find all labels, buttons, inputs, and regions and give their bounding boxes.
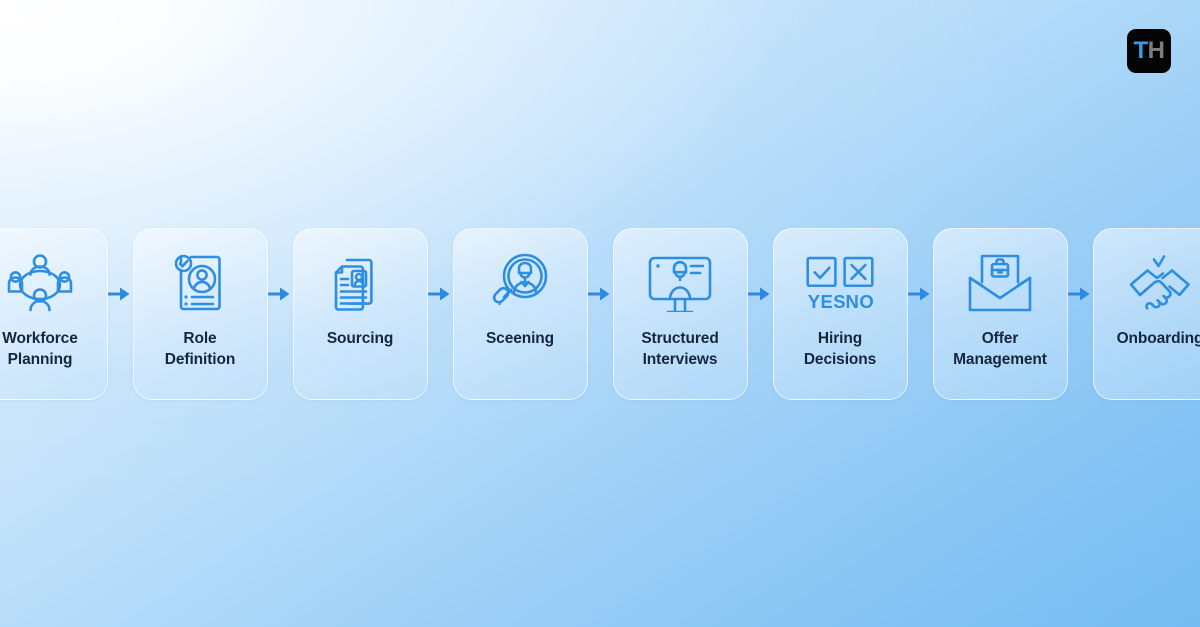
arrow-right-icon xyxy=(428,286,452,302)
stage-card-offer-management[interactable]: Offer Management xyxy=(933,228,1068,400)
brand-logo: TH xyxy=(1127,29,1171,73)
stage-label: Hiring Decisions xyxy=(776,328,904,371)
stage-card-sourcing[interactable]: Sourcing xyxy=(293,228,428,400)
stage-label: Structured Interviews xyxy=(616,328,744,371)
handshake-check-icon xyxy=(1124,252,1196,314)
stage-label: Onboarding xyxy=(1096,328,1200,349)
logo-letter-t: T xyxy=(1133,39,1147,63)
stage-card-structured-interviews[interactable]: Structured Interviews xyxy=(613,228,748,400)
magnifier-person-icon xyxy=(484,252,556,314)
arrow-right-icon xyxy=(588,286,612,302)
connector-arrow-2 xyxy=(268,228,293,400)
svg-text:NO: NO xyxy=(846,291,875,312)
stage-card-sceening[interactable]: Sceening xyxy=(453,228,588,400)
arrow-right-icon xyxy=(908,286,932,302)
stage-label: Sceening xyxy=(456,328,584,349)
hiring-process-flow: Workforce Planning Role Definiti xyxy=(0,228,1200,400)
stage-card-role-definition[interactable]: Role Definition xyxy=(133,228,268,400)
monitor-interview-icon xyxy=(644,252,716,314)
document-person-check-icon xyxy=(164,252,236,314)
arrow-right-icon xyxy=(268,286,292,302)
stage-label: Workforce Planning xyxy=(0,328,104,371)
people-round-table-icon xyxy=(4,252,76,314)
stage-card-onboarding[interactable]: Onboarding xyxy=(1093,228,1200,400)
connector-arrow-6 xyxy=(908,228,933,400)
arrow-right-icon xyxy=(108,286,132,302)
connector-arrow-1 xyxy=(108,228,133,400)
arrow-right-icon xyxy=(748,286,772,302)
arrow-right-icon xyxy=(1068,286,1092,302)
stage-label: Offer Management xyxy=(936,328,1064,371)
envelope-briefcase-icon xyxy=(964,252,1036,314)
connector-arrow-4 xyxy=(588,228,613,400)
svg-text:YES: YES xyxy=(808,291,846,312)
connector-arrow-7 xyxy=(1068,228,1093,400)
stage-card-workforce-planning[interactable]: Workforce Planning xyxy=(0,228,108,400)
stage-label: Sourcing xyxy=(296,328,424,349)
yes-no-checkboxes-icon: YES NO xyxy=(804,252,876,314)
logo-letter-h: H xyxy=(1148,39,1165,63)
stacked-resumes-icon xyxy=(324,252,396,314)
stage-card-hiring-decisions[interactable]: YES NO Hiring Decisions xyxy=(773,228,908,400)
stage-label: Role Definition xyxy=(136,328,264,371)
connector-arrow-5 xyxy=(748,228,773,400)
connector-arrow-3 xyxy=(428,228,453,400)
